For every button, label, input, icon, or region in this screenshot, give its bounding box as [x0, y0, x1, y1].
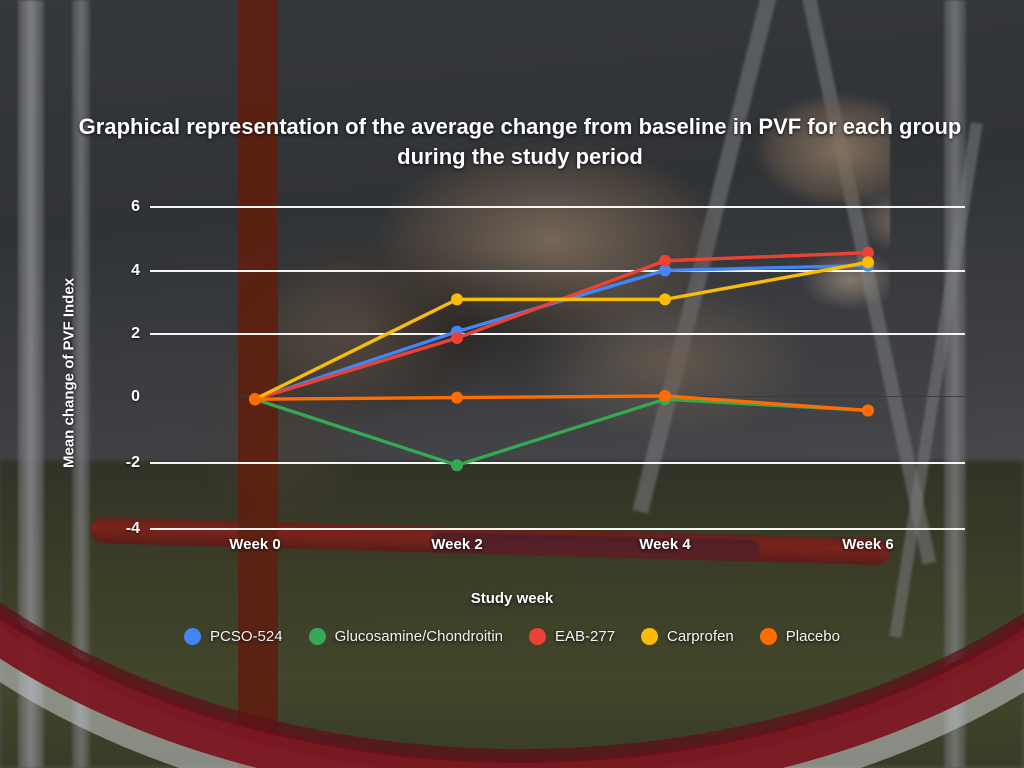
x-tick-label-week-4: Week 4 — [639, 536, 690, 553]
series-line-4 — [255, 396, 868, 410]
chart-title: Graphical representation of the average … — [60, 112, 980, 172]
data-point[interactable] — [862, 256, 874, 268]
legend-item-3[interactable]: Carprofen — [641, 628, 734, 645]
y-tick-label-2: 2 — [131, 325, 140, 343]
legend-swatch-icon — [184, 628, 201, 645]
legend-item-2[interactable]: EAB-277 — [529, 628, 615, 645]
x-tick-label-week-2: Week 2 — [431, 536, 482, 553]
series-line-2 — [255, 253, 868, 400]
data-point[interactable] — [659, 390, 671, 402]
x-tick-label-week-0: Week 0 — [229, 536, 280, 553]
y-tick-label-4: 4 — [131, 262, 140, 280]
data-point[interactable] — [659, 255, 671, 267]
series-line-1 — [255, 399, 868, 465]
legend-label: PCSO-524 — [210, 628, 283, 645]
y-tick-label-0: 0 — [131, 388, 140, 406]
x-tick-label-week-6: Week 6 — [842, 536, 893, 553]
legend-label: EAB-277 — [555, 628, 615, 645]
legend-swatch-icon — [641, 628, 658, 645]
legend-item-1[interactable]: Glucosamine/Chondroitin — [309, 628, 503, 645]
slide-canvas: Graphical representation of the average … — [0, 0, 1024, 768]
legend-item-4[interactable]: Placebo — [760, 628, 840, 645]
x-axis-title: Study week — [0, 590, 1024, 607]
plot-area: 6 4 2 0 -2 -4 — [150, 200, 965, 530]
legend-label: Placebo — [786, 628, 840, 645]
y-tick-label-minus-2: -2 — [126, 454, 140, 472]
legend-label: Carprofen — [667, 628, 734, 645]
y-tick-label-6: 6 — [131, 198, 140, 216]
data-point[interactable] — [659, 293, 671, 305]
data-point[interactable] — [862, 404, 874, 416]
data-point[interactable] — [451, 332, 463, 344]
legend-swatch-icon — [529, 628, 546, 645]
data-point[interactable] — [451, 392, 463, 404]
series-line-3 — [255, 262, 868, 399]
series-lines — [150, 200, 965, 530]
legend-swatch-icon — [309, 628, 326, 645]
y-tick-label-minus-4: -4 — [126, 520, 140, 538]
chart-legend: PCSO-524Glucosamine/ChondroitinEAB-277Ca… — [0, 628, 1024, 645]
data-point[interactable] — [451, 293, 463, 305]
legend-item-0[interactable]: PCSO-524 — [184, 628, 283, 645]
series-line-0 — [255, 266, 868, 400]
y-axis-title: Mean change of PVF Index — [58, 243, 80, 503]
data-point[interactable] — [451, 459, 463, 471]
data-point[interactable] — [249, 393, 261, 405]
legend-label: Glucosamine/Chondroitin — [335, 628, 503, 645]
legend-swatch-icon — [760, 628, 777, 645]
